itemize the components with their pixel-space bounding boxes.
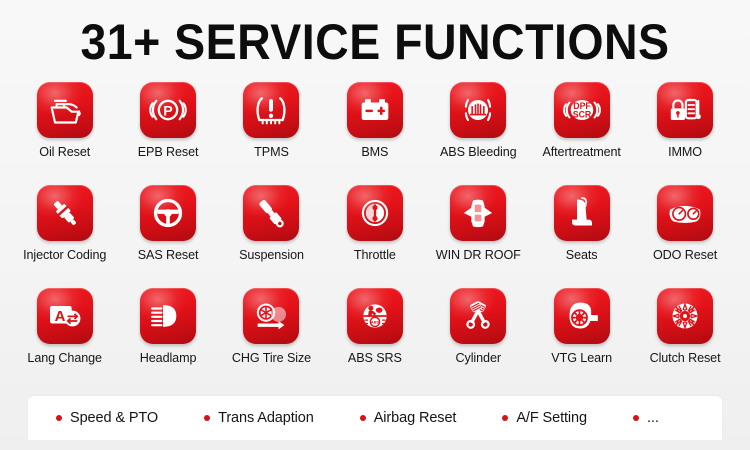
service-function-label: Aftertreatment bbox=[542, 145, 620, 159]
service-function-label: VTG Learn bbox=[551, 351, 612, 365]
service-function-item[interactable]: ABSABS SRS bbox=[323, 288, 426, 391]
service-function-item[interactable]: Suspension bbox=[220, 185, 323, 288]
service-function-item[interactable]: ODO Reset bbox=[633, 185, 736, 288]
service-function-item[interactable]: IMMO bbox=[633, 82, 736, 185]
service-function-label: Oil Reset bbox=[39, 145, 90, 159]
service-function-item[interactable]: BMS bbox=[323, 82, 426, 185]
service-function-item[interactable]: WIN DR ROOF bbox=[427, 185, 530, 288]
service-function-label: ABS Bleeding bbox=[440, 145, 517, 159]
car-doors-top-view-icon[interactable] bbox=[450, 185, 506, 241]
icon-svg bbox=[45, 90, 85, 130]
service-function-label: Suspension bbox=[239, 248, 304, 262]
service-function-label: ODO Reset bbox=[653, 248, 717, 262]
page-title: 31+ SERVICE FUNCTIONS bbox=[26, 14, 724, 70]
turbocharger-icon[interactable] bbox=[554, 288, 610, 344]
svg-text:A: A bbox=[54, 308, 65, 325]
icon-svg bbox=[355, 90, 395, 130]
service-function-label: Injector Coding bbox=[23, 248, 106, 262]
service-function-label: IMMO bbox=[668, 145, 702, 159]
svg-text:SCR: SCR bbox=[572, 110, 591, 120]
language-change-icon[interactable]: A bbox=[37, 288, 93, 344]
icon-svg bbox=[148, 193, 188, 233]
icon-svg bbox=[458, 193, 498, 233]
odometer-cluster-icon[interactable] bbox=[657, 185, 713, 241]
crossed-pistons-icon[interactable] bbox=[450, 288, 506, 344]
service-function-label: ABS SRS bbox=[348, 351, 402, 365]
icon-svg bbox=[458, 296, 498, 336]
icon-svg bbox=[665, 193, 705, 233]
service-function-item[interactable]: Oil Reset bbox=[13, 82, 116, 185]
service-function-grid: Oil ResetPEPB ResetTPMSBMSABS BleedingDP… bbox=[13, 82, 737, 391]
service-function-item[interactable]: CHG Tire Size bbox=[220, 288, 323, 391]
service-function-label: SAS Reset bbox=[138, 248, 199, 262]
svg-text:P: P bbox=[163, 103, 172, 119]
service-function-label: Clutch Reset bbox=[650, 351, 721, 365]
icon-svg bbox=[665, 90, 705, 130]
service-function-item[interactable]: VTG Learn bbox=[530, 288, 633, 391]
electronic-parking-brake-icon[interactable]: P bbox=[140, 82, 196, 138]
abs-bleeding-icon[interactable] bbox=[450, 82, 506, 138]
icon-svg: A bbox=[45, 296, 85, 336]
service-function-item[interactable]: ABS Bleeding bbox=[427, 82, 530, 185]
additional-function-item[interactable]: ... bbox=[633, 410, 659, 426]
service-function-item[interactable]: Headlamp bbox=[116, 288, 219, 391]
bullet-dot-icon bbox=[633, 415, 639, 421]
service-function-label: TPMS bbox=[254, 145, 289, 159]
additional-function-item[interactable]: Speed & PTO bbox=[56, 410, 158, 426]
service-function-item[interactable]: TPMS bbox=[220, 82, 323, 185]
car-seat-icon[interactable] bbox=[554, 185, 610, 241]
additional-function-item[interactable]: Airbag Reset bbox=[360, 410, 457, 426]
service-function-label: Seats bbox=[566, 248, 598, 262]
service-function-item[interactable]: PEPB Reset bbox=[116, 82, 219, 185]
service-function-item[interactable]: ALang Change bbox=[13, 288, 116, 391]
service-function-label: BMS bbox=[361, 145, 388, 159]
icon-svg bbox=[251, 90, 291, 130]
service-function-label: WIN DR ROOF bbox=[436, 248, 521, 262]
service-functions-poster: 31+ SERVICE FUNCTIONS Oil ResetPEPB Rese… bbox=[0, 0, 750, 450]
service-function-item[interactable]: SAS Reset bbox=[116, 185, 219, 288]
additional-functions-bar: Speed & PTOTrans AdaptionAirbag ResetA/F… bbox=[28, 396, 722, 440]
icon-svg: ABS bbox=[355, 296, 395, 336]
additional-function-label: ... bbox=[647, 410, 659, 426]
icon-svg bbox=[665, 296, 705, 336]
service-function-label: CHG Tire Size bbox=[232, 351, 311, 365]
service-function-item[interactable]: Throttle bbox=[323, 185, 426, 288]
battery-icon[interactable] bbox=[347, 82, 403, 138]
additional-function-label: Speed & PTO bbox=[70, 410, 158, 426]
clutch-disc-icon[interactable] bbox=[657, 288, 713, 344]
dpf-scr-icon[interactable]: DPFSCR bbox=[554, 82, 610, 138]
icon-svg bbox=[148, 296, 188, 336]
abs-srs-icon[interactable]: ABS bbox=[347, 288, 403, 344]
bullet-dot-icon bbox=[56, 415, 62, 421]
icon-svg bbox=[562, 193, 602, 233]
headlamp-beam-icon[interactable] bbox=[140, 288, 196, 344]
change-tire-size-icon[interactable] bbox=[243, 288, 299, 344]
icon-svg bbox=[251, 193, 291, 233]
additional-function-label: Airbag Reset bbox=[374, 410, 457, 426]
oil-can-icon[interactable] bbox=[37, 82, 93, 138]
icon-svg bbox=[562, 296, 602, 336]
shock-absorber-icon[interactable] bbox=[243, 185, 299, 241]
throttle-body-icon[interactable] bbox=[347, 185, 403, 241]
additional-function-label: A/F Setting bbox=[516, 410, 587, 426]
service-function-item[interactable]: Seats bbox=[530, 185, 633, 288]
bullet-dot-icon bbox=[502, 415, 508, 421]
icon-svg bbox=[458, 90, 498, 130]
service-function-label: Throttle bbox=[354, 248, 396, 262]
icon-svg bbox=[251, 296, 291, 336]
service-function-item[interactable]: Injector Coding bbox=[13, 185, 116, 288]
service-function-item[interactable]: Clutch Reset bbox=[633, 288, 736, 391]
service-function-label: Cylinder bbox=[456, 351, 501, 365]
tire-pressure-icon[interactable] bbox=[243, 82, 299, 138]
icon-svg: DPFSCR bbox=[562, 90, 602, 130]
bullet-dot-icon bbox=[204, 415, 210, 421]
service-function-item[interactable]: Cylinder bbox=[427, 288, 530, 391]
service-function-label: Headlamp bbox=[140, 351, 197, 365]
additional-function-item[interactable]: A/F Setting bbox=[502, 410, 587, 426]
service-function-item[interactable]: DPFSCRAftertreatment bbox=[530, 82, 633, 185]
icon-svg bbox=[355, 193, 395, 233]
steering-wheel-icon[interactable] bbox=[140, 185, 196, 241]
icon-svg: P bbox=[148, 90, 188, 130]
svg-text:ABS: ABS bbox=[371, 321, 380, 325]
service-function-label: EPB Reset bbox=[138, 145, 199, 159]
service-function-label: Lang Change bbox=[27, 351, 102, 365]
immobilizer-lock-icon[interactable] bbox=[657, 82, 713, 138]
icon-svg bbox=[45, 193, 85, 233]
bullet-dot-icon bbox=[360, 415, 366, 421]
additional-function-item[interactable]: Trans Adaption bbox=[204, 410, 314, 426]
additional-function-label: Trans Adaption bbox=[218, 410, 314, 426]
fuel-injector-icon[interactable] bbox=[37, 185, 93, 241]
